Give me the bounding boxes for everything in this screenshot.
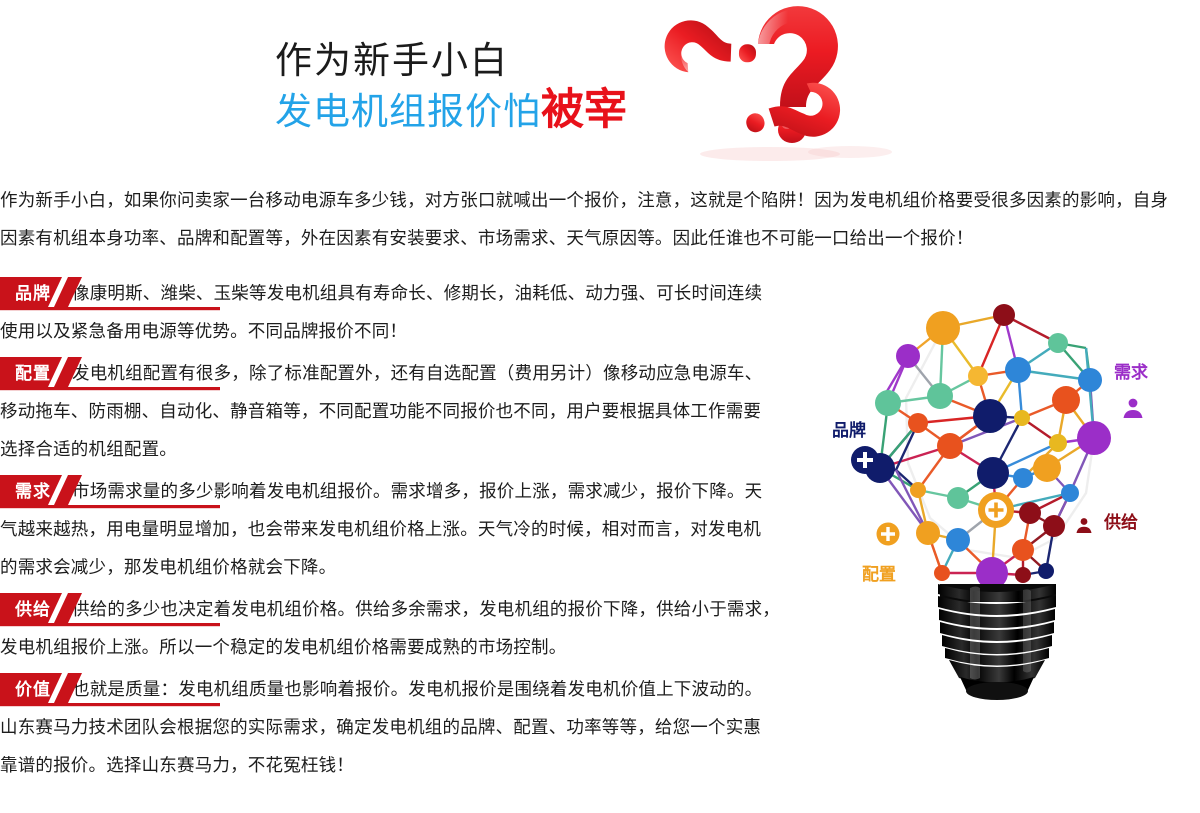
section-line: 气越来越热，用电量明显增加，也会带来发电机组价格上涨。天气冷的时候，相对而言，对… <box>0 511 800 549</box>
section-line: 也就是质量：发电机组质量也影响着报价。发电机报价是围绕着发电机价值上下波动的。 <box>0 671 800 709</box>
factor-section: 供给 供给的多少也决定着发电机组价格。供给多余需求，发电机组的报价下降，供给小于… <box>0 591 800 667</box>
factor-section: 配置 发电机组配置有很多，除了标准配置外，还有自选配置（费用另计）像移动应急电源… <box>0 355 800 469</box>
section-line: 山东赛马力技术团队会根据您的实际需求，确定发电机组的品牌、配置、功率等等，给您一… <box>0 709 800 747</box>
header-line-2-red: 被宰 <box>541 85 627 135</box>
section-body: 市场需求量的多少影响着发电机组报价。需求增多，报价上涨，需求减少，报价下降。天 … <box>0 473 800 587</box>
network-lightbulb-graphic: 品牌 需求 供给 配置 <box>818 288 1200 712</box>
person-icon-supply <box>1074 516 1094 536</box>
header-banner: 作为新手小白 发电机组报价怕被宰 <box>0 0 1200 168</box>
header-title-block: 作为新手小白 发电机组报价怕被宰 <box>275 38 627 135</box>
plus-circle-icon-config <box>874 520 902 548</box>
intro-paragraph: 作为新手小白，如果你问卖家一台移动电源车多少钱，对方张口就喊出一个报价，注意，这… <box>0 182 1200 258</box>
section-line: 选择合适的机组配置。 <box>0 431 800 469</box>
person-icon-demand <box>1120 396 1146 422</box>
bulb-label-config: 配置 <box>862 560 896 585</box>
section-line: 使用以及紧急备用电源等优势。不同品牌报价不同！ <box>0 313 800 351</box>
section-line: 发电机组配置有很多，除了标准配置外，还有自选配置（费用另计）像移动应急电源车、 <box>0 355 800 393</box>
bulb-label-demand: 需求 <box>1114 358 1148 383</box>
factor-section: 品牌 像康明斯、潍柴、玉柴等发电机组具有寿命长、修期长，油耗低、动力强、可长时间… <box>0 275 800 351</box>
header-line-2-blue: 发电机组报价怕 <box>275 90 541 133</box>
section-body: 发电机组配置有很多，除了标准配置外，还有自选配置（费用另计）像移动应急电源车、 … <box>0 355 800 469</box>
question-mark-left-glyph <box>664 19 732 73</box>
section-line: 移动拖车、防雨棚、自动化、静音箱等，不同配置功能不同报价也不同，用户要根据具体工… <box>0 393 800 431</box>
factor-section: 需求 市场需求量的多少影响着发电机组报价。需求增多，报价上涨，需求减少，报价下降… <box>0 473 800 587</box>
section-line: 的需求会减少，那发电机组价格就会下降。 <box>0 549 800 587</box>
section-line: 发电机组报价上涨。所以一个稳定的发电机组价格需要成熟的市场控制。 <box>0 629 800 667</box>
section-body: 也就是质量：发电机组质量也影响着报价。发电机报价是围绕着发电机价值上下波动的。 … <box>0 671 800 785</box>
header-line-1: 作为新手小白 <box>275 38 627 83</box>
factor-section: 价值 也就是质量：发电机组质量也影响着报价。发电机报价是围绕着发电机价值上下波动… <box>0 671 800 785</box>
bulb-label-brand: 品牌 <box>832 416 866 441</box>
intro-line: 因素有机组本身功率、品牌和配置等，外在因素有安装要求、市场需求、天气原因等。因此… <box>0 220 1200 258</box>
section-line: 市场需求量的多少影响着发电机组报价。需求增多，报价上涨，需求减少，报价下降。天 <box>0 473 800 511</box>
factor-section-list: 品牌 像康明斯、潍柴、玉柴等发电机组具有寿命长、修期长，油耗低、动力强、可长时间… <box>0 275 800 789</box>
question-marks-icon <box>660 2 920 170</box>
plus-circle-icon-brand <box>848 443 882 477</box>
bulb-screw-base <box>938 584 1056 700</box>
lightbulb-illustration <box>818 288 1200 712</box>
bulb-label-supply: 供给 <box>1104 508 1138 533</box>
section-body: 供给的多少也决定着发电机组价格。供给多余需求，发电机组的报价下降，供给小于需求，… <box>0 591 800 667</box>
section-line: 像康明斯、潍柴、玉柴等发电机组具有寿命长、修期长，油耗低、动力强、可长时间连续 <box>0 275 800 313</box>
section-body: 像康明斯、潍柴、玉柴等发电机组具有寿命长、修期长，油耗低、动力强、可长时间连续 … <box>0 275 800 351</box>
section-line: 供给的多少也决定着发电机组价格。供给多余需求，发电机组的报价下降，供给小于需求， <box>0 591 800 629</box>
header-line-2: 发电机组报价怕被宰 <box>275 87 627 135</box>
section-line: 靠谱的报价。选择山东赛马力，不花冤枉钱！ <box>0 747 800 785</box>
intro-line: 作为新手小白，如果你问卖家一台移动电源车多少钱，对方张口就喊出一个报价，注意，这… <box>0 182 1200 220</box>
